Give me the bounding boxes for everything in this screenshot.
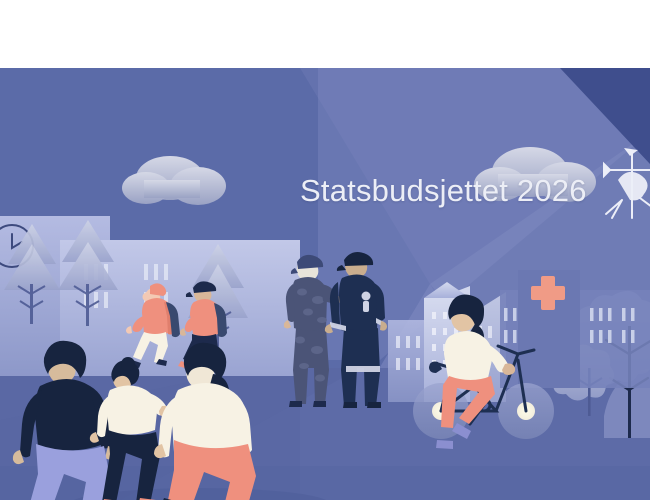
illustration-banner: Statsbudsjettet 2026: [0, 0, 650, 500]
top-white-band: [0, 0, 650, 68]
rider-top: [444, 331, 492, 382]
child-top: [107, 386, 157, 435]
scene-svg: [0, 68, 650, 500]
hero-illustration: Statsbudsjettet 2026: [0, 68, 650, 500]
page-title: Statsbudsjettet 2026: [300, 173, 587, 209]
hair-bun: [121, 357, 135, 371]
